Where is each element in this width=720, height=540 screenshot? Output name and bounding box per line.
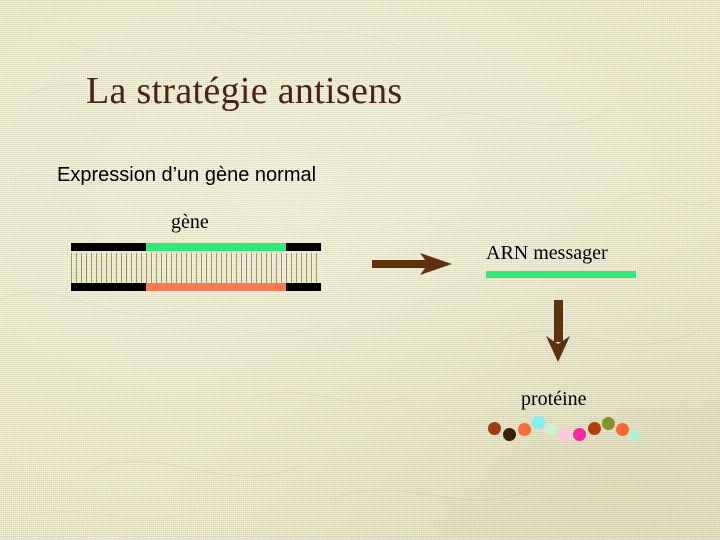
translation-arrow-down-icon [544, 300, 572, 362]
protein-bead [616, 423, 629, 436]
gene-dna-diagram [71, 243, 321, 291]
dna-segment-template-gene [146, 283, 286, 291]
dna-segment-coding-gene [146, 243, 286, 251]
page-title: La stratégie antisens [86, 68, 403, 114]
dna-segment-flank-left [71, 283, 146, 291]
protein-bead [558, 429, 571, 442]
mrna-strand-bar [486, 271, 636, 278]
protein-bead [629, 429, 641, 441]
dna-segment-flank-left [71, 243, 146, 251]
protein-bead [573, 428, 586, 441]
protein-label: protéine [521, 387, 587, 411]
dna-segment-flank-right [286, 243, 321, 251]
dna-base-pair-rungs [71, 253, 321, 283]
protein-bead [518, 423, 531, 436]
gene-label: gène [171, 210, 209, 234]
mrna-label: ARN messager [486, 241, 608, 265]
section-subtitle: Expression d’un gène normal [57, 162, 316, 188]
dna-top-strand [71, 243, 321, 251]
protein-bead [602, 417, 615, 430]
protein-bead [532, 416, 545, 429]
protein-bead [588, 422, 601, 435]
protein-bead [545, 423, 557, 435]
dna-bottom-strand [71, 283, 321, 291]
transcription-arrow-right-icon [372, 252, 452, 276]
dna-segment-flank-right [286, 283, 321, 291]
protein-bead [488, 422, 501, 435]
slide-canvas: La stratégie antisens Expression d’un gè… [0, 0, 720, 540]
protein-bead-chain [488, 414, 638, 448]
protein-bead [503, 428, 516, 441]
